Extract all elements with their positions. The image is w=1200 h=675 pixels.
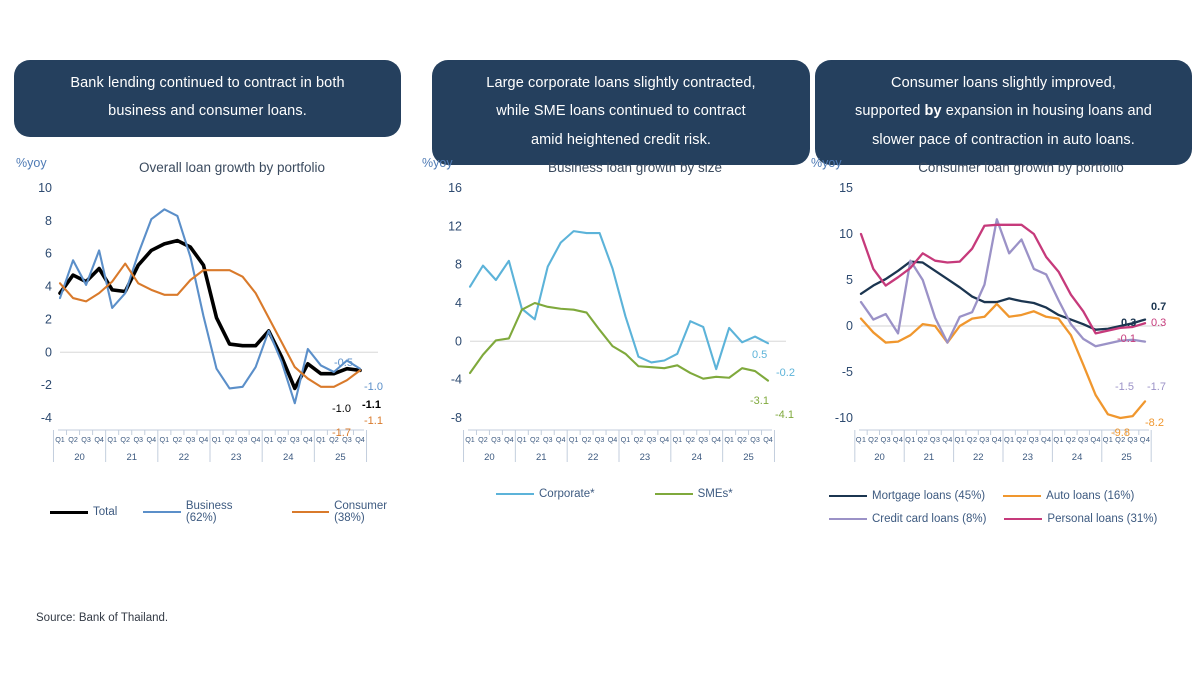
panel-business-loan-growth: Large corporate loans slightly contracte…: [420, 60, 810, 560]
x-axis-quarter-label: Q2: [225, 435, 235, 444]
series-line: [861, 225, 1145, 334]
callout-line: while SME loans continued to contract: [448, 97, 794, 125]
y-axis-tick: 5: [846, 273, 853, 287]
callout-line: amid heightened credit risk.: [448, 126, 794, 154]
callout-line: business and consumer loans.: [30, 97, 385, 125]
legend-label: SMEs*: [698, 488, 733, 500]
data-point-label: -3.1: [750, 395, 769, 407]
x-axis-quarter-label: Q4: [94, 435, 104, 444]
y-axis-tick: 16: [448, 181, 462, 195]
x-axis-quarter-label: Q3: [238, 435, 248, 444]
legend-swatch: [829, 495, 867, 497]
callout-panel-2: Large corporate loans slightly contracte…: [432, 60, 810, 165]
x-axis-quarter-label: Q4: [1090, 435, 1100, 444]
x-axis-year-label: 22: [588, 452, 599, 463]
callout-panel-1: Bank lending continued to contract in bo…: [14, 60, 401, 137]
legend-item[interactable]: Corporate*: [496, 488, 595, 500]
x-axis-quarter-label: Q3: [133, 435, 143, 444]
x-axis-quarter-label: Q2: [634, 435, 644, 444]
data-point-label: -9.8: [1111, 427, 1130, 439]
y-axis-tick: -2: [41, 378, 52, 392]
callout-line: Large corporate loans slightly contracte…: [448, 69, 794, 97]
y-axis-tick: 6: [45, 247, 52, 261]
x-axis-quarter-label: Q1: [212, 435, 222, 444]
data-point-label: -1.5: [1115, 381, 1134, 393]
x-axis-year-label: 23: [1022, 452, 1033, 463]
y-axis-tick: 0: [455, 334, 462, 348]
legend-swatch: [143, 511, 181, 513]
callout-line: supported by expansion in housing loans …: [831, 97, 1176, 125]
legend-item[interactable]: Mortgage loans (45%): [829, 490, 985, 502]
data-point-label: -1.1: [364, 415, 383, 427]
series-line: [861, 219, 1145, 346]
x-axis-quarter-label: Q4: [556, 435, 566, 444]
x-axis-quarter-label: Q2: [967, 435, 977, 444]
legend-swatch: [1003, 495, 1041, 497]
x-axis-quarter-label: Q1: [316, 435, 326, 444]
x-axis-quarter-label: Q1: [955, 435, 965, 444]
x-axis-quarter-label: Q1: [569, 435, 579, 444]
x-axis-quarter-label: Q2: [1016, 435, 1026, 444]
x-axis-quarter-label: Q2: [68, 435, 78, 444]
x-axis-quarter-label: Q4: [251, 435, 261, 444]
legend-label: Personal loans (31%): [1047, 513, 1157, 525]
x-axis-quarter-label: Q1: [160, 435, 170, 444]
legend-swatch: [292, 511, 330, 513]
legend-label: Corporate*: [539, 488, 595, 500]
callout-line: Bank lending continued to contract in bo…: [30, 69, 385, 97]
x-axis-quarter-label: Q3: [543, 435, 553, 444]
series-line: [60, 209, 360, 403]
x-axis-year-label: 22: [973, 452, 984, 463]
x-axis-quarter-label: Q2: [120, 435, 130, 444]
x-axis-quarter-label: Q3: [750, 435, 760, 444]
x-axis-year-label: 24: [691, 452, 702, 463]
x-axis-quarter-label: Q2: [173, 435, 183, 444]
x-axis-year-label: 21: [924, 452, 935, 463]
x-axis-year-label: 21: [126, 452, 137, 463]
legend-label: Business (62%): [186, 500, 266, 524]
series-line: [470, 231, 768, 369]
x-axis-quarter-label: Q1: [621, 435, 631, 444]
legend-item[interactable]: Auto loans (16%): [1003, 490, 1134, 502]
x-axis-quarter-label: Q4: [1140, 435, 1150, 444]
x-axis-year-label: 23: [231, 452, 242, 463]
x-axis-year-label: 20: [74, 452, 85, 463]
x-axis-quarter-label: Q4: [763, 435, 773, 444]
panels-container: Bank lending continued to contract in bo…: [0, 60, 1200, 560]
data-point-label: -0.5: [334, 357, 353, 369]
y-axis-tick: 15: [839, 181, 853, 195]
legend-swatch: [50, 511, 88, 514]
y-axis-tick: -10: [835, 411, 853, 425]
x-axis-quarter-label: Q3: [1029, 435, 1039, 444]
x-axis-quarter-label: Q2: [868, 435, 878, 444]
legend-1: TotalBusiness (62%)Consumer (38%): [50, 500, 420, 524]
x-axis-quarter-label: Q2: [737, 435, 747, 444]
legend-2: Corporate*SMEs*: [496, 488, 816, 500]
callout-line: slower pace of contraction in auto loans…: [831, 126, 1176, 154]
data-point-label: 0.5: [752, 349, 767, 361]
data-point-label: -4.1: [775, 409, 794, 421]
legend-label: Credit card loans (8%): [872, 513, 986, 525]
x-axis-quarter-label: Q1: [107, 435, 117, 444]
y-axis-tick: -8: [451, 411, 462, 425]
legend-swatch: [655, 493, 693, 495]
legend-label: Consumer (38%): [334, 500, 420, 524]
y-axis-tick: 0: [846, 319, 853, 333]
x-axis-year-label: 25: [743, 452, 754, 463]
x-axis-year-label: 21: [536, 452, 547, 463]
data-point-label: -0.1: [1117, 333, 1136, 345]
x-axis-quarter-label: Q3: [979, 435, 989, 444]
legend-label: Mortgage loans (45%): [872, 490, 985, 502]
x-axis-quarter-label: Q3: [698, 435, 708, 444]
x-axis-quarter-label: Q1: [673, 435, 683, 444]
legend-swatch: [829, 518, 867, 520]
y-axis-tick: 4: [455, 296, 462, 310]
x-axis-year-label: 20: [484, 452, 495, 463]
y-axis-tick: 8: [45, 214, 52, 228]
x-axis-quarter-label: Q4: [504, 435, 514, 444]
x-axis-quarter-label: Q4: [711, 435, 721, 444]
data-point-label: 0.3: [1121, 317, 1136, 329]
x-axis-year-label: 24: [283, 452, 294, 463]
legend-item[interactable]: Total: [50, 506, 117, 518]
x-axis-quarter-label: Q1: [905, 435, 915, 444]
data-point-label: -1.7: [1147, 381, 1166, 393]
legend-3: Mortgage loans (45%)Auto loans (16%) Cre…: [829, 490, 1199, 525]
y-axis-tick: -4: [41, 411, 52, 425]
x-axis-quarter-label: Q1: [55, 435, 65, 444]
x-axis-quarter-label: Q2: [478, 435, 488, 444]
panel-overall-loan-growth: Bank lending continued to contract in bo…: [14, 60, 414, 560]
y-axis-tick: -5: [842, 365, 853, 379]
series-line: [60, 241, 360, 389]
x-axis-quarter-label: Q4: [303, 435, 313, 444]
x-axis-quarter-label: Q2: [1066, 435, 1076, 444]
legend-item[interactable]: Business (62%): [143, 500, 265, 524]
x-axis-year-label: 22: [179, 452, 190, 463]
x-axis-quarter-label: Q3: [491, 435, 501, 444]
x-axis-quarter-label: Q2: [277, 435, 287, 444]
x-axis-quarter-label: Q4: [147, 435, 157, 444]
data-point-label: -1.7: [332, 427, 351, 439]
x-axis-quarter-label: Q3: [595, 435, 605, 444]
x-axis-year-label: 24: [1072, 452, 1083, 463]
legend-swatch: [1004, 518, 1042, 520]
data-point-label: -1.0: [364, 381, 383, 393]
x-axis-quarter-label: Q1: [264, 435, 274, 444]
x-axis-quarter-label: Q1: [517, 435, 527, 444]
x-axis-year-label: 23: [640, 452, 651, 463]
data-point-label: 0.7: [1151, 301, 1166, 313]
legend-label: Total: [93, 506, 117, 518]
data-point-label: -1.0: [332, 403, 351, 415]
y-axis-tick: 8: [455, 258, 462, 272]
y-axis-tick: 10: [839, 227, 853, 241]
x-axis-quarter-label: Q3: [1078, 435, 1088, 444]
x-axis-quarter-label: Q4: [660, 435, 670, 444]
data-point-label: -0.2: [776, 367, 795, 379]
x-axis-year-label: 20: [874, 452, 885, 463]
x-axis-quarter-label: Q3: [186, 435, 196, 444]
callout-line: Consumer loans slightly improved,: [831, 69, 1176, 97]
callout-panel-3: Consumer loans slightly improved,support…: [815, 60, 1192, 165]
legend-item[interactable]: SMEs*: [655, 488, 733, 500]
series-line: [861, 304, 1145, 418]
data-point-label: -8.2: [1145, 417, 1164, 429]
legend-item[interactable]: Personal loans (31%): [1004, 513, 1157, 525]
x-axis-quarter-label: Q2: [582, 435, 592, 444]
y-axis-tick: 12: [448, 219, 462, 233]
x-axis-quarter-label: Q1: [724, 435, 734, 444]
x-axis-year-label: 25: [335, 452, 346, 463]
y-axis-tick: 0: [45, 345, 52, 359]
x-axis-quarter-label: Q4: [942, 435, 952, 444]
chart-canvas-1: -4-20246810Q1Q2Q3Q4Q1Q2Q3Q4Q1Q2Q3Q4Q1Q2Q…: [14, 168, 414, 548]
legend-item[interactable]: Consumer (38%): [292, 500, 421, 524]
source-note: Source: Bank of Thailand.: [36, 612, 168, 624]
legend-label: Auto loans (16%): [1046, 490, 1134, 502]
x-axis-quarter-label: Q4: [199, 435, 209, 444]
legend-swatch: [496, 493, 534, 495]
x-axis-quarter-label: Q3: [290, 435, 300, 444]
y-axis-tick: 10: [38, 181, 52, 195]
x-axis-quarter-label: Q4: [1041, 435, 1051, 444]
x-axis-quarter-label: Q2: [918, 435, 928, 444]
x-axis-quarter-label: Q3: [647, 435, 657, 444]
x-axis-quarter-label: Q1: [1053, 435, 1063, 444]
data-point-label: -1.1: [362, 399, 381, 411]
panel-consumer-loan-growth: Consumer loans slightly improved,support…: [815, 60, 1195, 560]
x-axis-quarter-label: Q4: [992, 435, 1002, 444]
x-axis-quarter-label: Q4: [893, 435, 903, 444]
x-axis-quarter-label: Q1: [465, 435, 475, 444]
legend-item[interactable]: Credit card loans (8%): [829, 513, 986, 525]
x-axis-quarter-label: Q2: [685, 435, 695, 444]
x-axis-quarter-label: Q1: [1004, 435, 1014, 444]
y-axis-tick: -4: [451, 373, 462, 387]
x-axis-quarter-label: Q2: [530, 435, 540, 444]
slide-root: Bank lending continued to contract in bo…: [0, 0, 1200, 675]
x-axis-quarter-label: Q4: [355, 435, 365, 444]
x-axis-quarter-label: Q3: [81, 435, 91, 444]
x-axis-quarter-label: Q1: [856, 435, 866, 444]
data-point-label: 0.3: [1151, 317, 1166, 329]
x-axis-year-label: 25: [1121, 452, 1132, 463]
x-axis-quarter-label: Q3: [880, 435, 890, 444]
x-axis-quarter-label: Q4: [608, 435, 618, 444]
y-axis-tick: 4: [45, 280, 52, 294]
y-axis-tick: 2: [45, 312, 52, 326]
x-axis-quarter-label: Q3: [930, 435, 940, 444]
